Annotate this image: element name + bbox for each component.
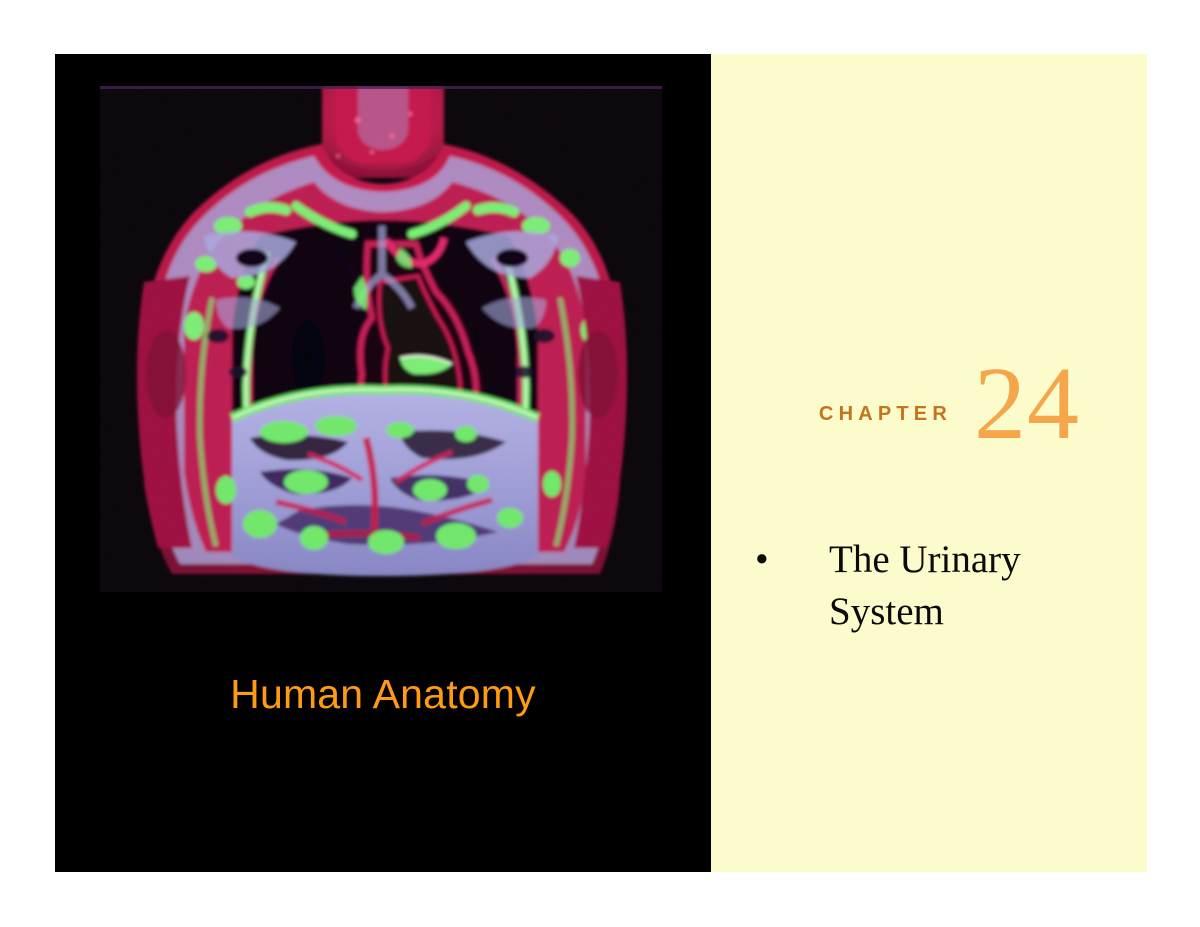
slide-bullet-list: • The Urinary System: [751, 534, 1123, 638]
bullet-text: The Urinary System: [829, 538, 1021, 633]
slide-left-panel: Human Anatomy: [55, 54, 711, 872]
chapter-number: 24: [974, 352, 1080, 456]
bullet-point-icon: •: [755, 534, 769, 586]
slide-right-panel: CHAPTER 24 • The Urinary System: [711, 54, 1147, 872]
chapter-heading: CHAPTER 24: [819, 352, 1080, 456]
presentation-slide: Human Anatomy CHAPTER 24 • The Urinary S…: [55, 54, 1147, 872]
list-item: • The Urinary System: [751, 534, 1123, 638]
course-title: Human Anatomy: [55, 674, 711, 715]
chapter-label: CHAPTER: [819, 404, 952, 424]
ct-scan-figure: [100, 86, 662, 592]
